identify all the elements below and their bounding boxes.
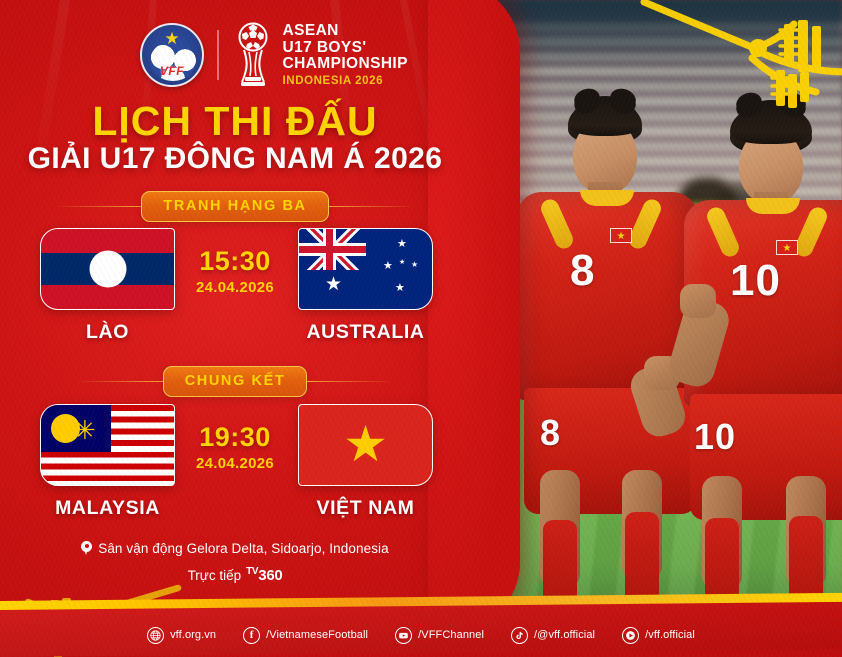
social-link-youtube[interactable]: /VFFChannel	[395, 627, 484, 644]
southern-cross-star: ★	[411, 261, 418, 269]
location-pin-icon	[81, 541, 92, 556]
asean-line-3: CHAMPIONSHIP	[283, 56, 408, 72]
broadcast-label: Trực tiếp	[188, 568, 242, 583]
team-vietnam: ★ VIỆT NAM	[278, 404, 453, 520]
southern-cross-star: ★	[395, 283, 405, 294]
badge-line-right	[329, 206, 415, 207]
header-logos: ★ VFF	[140, 22, 408, 88]
team-name-away: VIỆT NAM	[278, 497, 453, 520]
social-link-website[interactable]: vff.org.vn	[147, 627, 216, 644]
page-title-line1: LỊCH THI ĐẤU	[0, 98, 470, 145]
player-right-flag-badge	[776, 240, 798, 255]
badge-line-right	[307, 381, 393, 382]
player-right-collar	[746, 198, 800, 214]
tv360-rest: 360	[258, 567, 282, 584]
vff-logo-text: VFF	[142, 64, 202, 78]
player-right-jersey-number: 10	[730, 256, 781, 306]
team-name-home: MALAYSIA	[20, 497, 195, 520]
broadcast-row: Trực tiếp TV360	[0, 566, 470, 584]
asean-line-2: U17 BOYS'	[283, 40, 408, 56]
social-link-facebook[interactable]: f /VietnameseFootball	[243, 627, 368, 644]
team-name-away: AUSTRALIA	[278, 321, 453, 344]
asean-year: INDONESIA 2026	[283, 75, 408, 87]
star-icon: ★	[164, 30, 179, 47]
venue-text: Sân vận động Gelora Delta, Sidoarjo, Ind…	[98, 541, 389, 556]
yellow-star-icon: ★	[343, 419, 388, 469]
flag-malaysia-icon: ✳	[40, 404, 175, 486]
team-australia: ★ ★ ★ ★ ★ ★ AUSTRALIA	[278, 228, 453, 344]
player-left-fringe	[568, 100, 642, 136]
facebook-icon: f	[243, 627, 260, 644]
flag-australia-icon: ★ ★ ★ ★ ★ ★	[298, 228, 433, 310]
match-date: 24.04.2026	[185, 455, 285, 472]
social-label: /@vff.official	[534, 629, 595, 641]
asean-logo-text: ASEAN U17 BOYS' CHAMPIONSHIP INDONESIA 2…	[283, 23, 408, 86]
player-right-fist	[680, 284, 716, 318]
match-date: 24.04.2026	[185, 279, 285, 296]
commonwealth-star: ★	[325, 275, 342, 294]
page-title-line2: GIẢI U17 ĐÔNG NAM Á 2026	[0, 142, 470, 176]
social-links-bar: vff.org.vn f /VietnameseFootball /VFFCha…	[0, 619, 842, 651]
match-time: 19:30	[185, 422, 285, 453]
social-label: vff.org.vn	[170, 629, 216, 641]
vff-logo-icon: ★ VFF	[140, 23, 204, 87]
asean-line-1: ASEAN	[283, 23, 408, 39]
asean-championship-logo: ASEAN U17 BOYS' CHAMPIONSHIP INDONESIA 2…	[232, 22, 408, 88]
social-label: /vff.official	[645, 629, 695, 641]
southern-cross-star: ★	[397, 239, 407, 250]
stage-badge-final-wrap: CHUNG KẾT	[0, 366, 470, 397]
badge-line-left	[55, 206, 141, 207]
tv360-sup: TV	[246, 566, 258, 577]
logo-divider	[217, 30, 219, 80]
tiktok-icon	[511, 627, 528, 644]
social-label: /VietnameseFootball	[266, 629, 368, 641]
southern-cross-star: ★	[399, 259, 405, 266]
match-time-block-2: 19:30 24.04.2026	[185, 422, 285, 472]
play-icon	[622, 627, 639, 644]
match-time-block-1: 15:30 24.04.2026	[185, 246, 285, 296]
player-left-collar	[580, 190, 634, 206]
star-14-point-icon: ✳	[74, 417, 96, 443]
union-jack-cross-red	[299, 229, 366, 270]
stage-badge-final: CHUNG KẾT	[163, 366, 308, 397]
team-laos: LÀO	[20, 228, 195, 344]
stage-badge-third-place: TRANH HẠNG BA	[141, 191, 328, 222]
globe-icon	[147, 627, 164, 644]
player-right-shorts-number: 10	[694, 416, 736, 458]
southern-cross-star: ★	[383, 261, 393, 272]
social-label: /VFFChannel	[418, 629, 484, 641]
flag-vietnam-icon: ★	[298, 404, 433, 486]
stage-badge-third-place-wrap: TRANH HẠNG BA	[0, 191, 470, 222]
player-left-jersey-number: 8	[570, 246, 595, 296]
player-right-fringe	[730, 104, 812, 144]
tv360-logo: TV360	[246, 566, 282, 584]
social-link-play[interactable]: /vff.official	[622, 627, 695, 644]
venue-row: Sân vận động Gelora Delta, Sidoarjo, Ind…	[0, 541, 470, 556]
poster-canvas: 8 8 10 10	[0, 0, 842, 657]
player-left-shorts-number: 8	[540, 412, 561, 454]
match-time: 15:30	[185, 246, 285, 277]
social-link-tiktok[interactable]: /@vff.official	[511, 627, 595, 644]
laos-disc	[89, 251, 126, 288]
youtube-icon	[395, 627, 412, 644]
match-row-third-place: LÀO 15:30 24.04.2026 ★ ★ ★ ★ ★ ★ AUSTRAL…	[0, 228, 470, 358]
badge-line-left	[77, 381, 163, 382]
flag-laos-icon	[40, 228, 175, 310]
match-row-final: ✳ MALAYSIA 19:30 24.04.2026 ★ VIỆT NAM	[0, 404, 470, 534]
team-name-home: LÀO	[20, 321, 195, 344]
trophy-icon	[232, 22, 274, 88]
team-malaysia: ✳ MALAYSIA	[20, 404, 195, 520]
player-left-flag-badge	[610, 228, 632, 243]
